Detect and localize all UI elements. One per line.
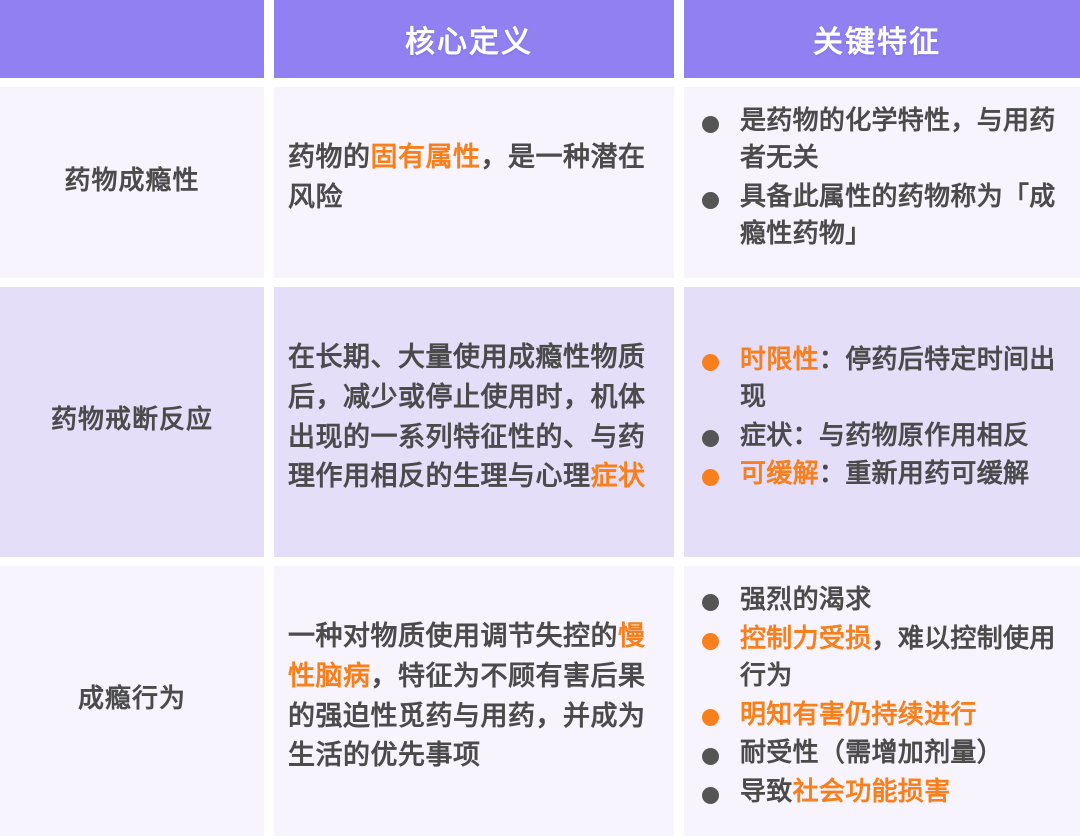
table-header-key-features: 关键特征 — [674, 0, 1080, 78]
plain-phrase: 是药物的化学特性，与用药者无关 — [740, 105, 1056, 172]
row-term-label: 药物戒断反应 — [51, 399, 213, 436]
highlighted-phrase: 明知有害仍持续进行 — [740, 699, 977, 729]
highlighted-phrase: 固有属性 — [371, 142, 481, 172]
row-term-label: 药物成瘾性 — [64, 160, 199, 197]
feature-list-item: 导致社会功能损害 — [690, 773, 1066, 810]
feature-list-item: 是药物的化学特性，与用药者无关 — [690, 102, 1066, 176]
plain-phrase: 具备此属性的药物称为「成瘾性药物」 — [740, 181, 1056, 248]
plain-phrase: 导致 — [740, 776, 793, 806]
bullet-dot-icon — [702, 709, 719, 726]
table-cell-definition: 一种对物质使用调节失控的慢性脑病，特征为不顾有害后果的强迫性觅药与用药，并成为生… — [264, 557, 674, 836]
table-header-blank — [0, 0, 264, 78]
feature-list-item: 可缓解：重新用药可缓解 — [690, 455, 1066, 492]
highlighted-phrase: 症状 — [591, 461, 646, 491]
row-term-label: 成瘾行为 — [78, 678, 186, 715]
feature-list-item: 时限性：停药后特定时间出现 — [690, 341, 1066, 415]
bullet-dot-icon — [702, 430, 719, 447]
plain-phrase: 症状：与药物原作用相反 — [740, 420, 1029, 450]
definition-text: 药物的固有属性，是一种潜在风险 — [288, 138, 652, 218]
table-cell-definition: 在长期、大量使用成瘾性物质后，减少或停止使用时，机体出现的一系列特征性的、与药理… — [264, 278, 674, 557]
plain-phrase: 药物的 — [288, 142, 371, 172]
highlighted-phrase: 社会功能损害 — [793, 776, 951, 806]
feature-list-item: 症状：与药物原作用相反 — [690, 417, 1066, 454]
highlighted-phrase: 可缓解 — [740, 458, 819, 488]
header-label-col3: 关键特征 — [813, 17, 941, 61]
table-cell-definition: 药物的固有属性，是一种潜在风险 — [264, 78, 674, 278]
feature-list: 时限性：停药后特定时间出现症状：与药物原作用相反可缓解：重新用药可缓解 — [690, 341, 1066, 495]
table-row: 药物戒断反应 — [0, 278, 264, 557]
feature-list-item: 明知有害仍持续进行 — [690, 696, 1066, 733]
bullet-dot-icon — [702, 116, 719, 133]
table-cell-features: 时限性：停药后特定时间出现症状：与药物原作用相反可缓解：重新用药可缓解 — [674, 278, 1080, 557]
bullet-dot-icon — [702, 192, 719, 209]
plain-phrase: 强烈的渴求 — [740, 584, 872, 614]
definition-text: 在长期、大量使用成瘾性物质后，减少或停止使用时，机体出现的一系列特征性的、与药理… — [288, 338, 652, 498]
plain-phrase: ：重新用药可缓解 — [819, 458, 1029, 488]
definition-text: 一种对物质使用调节失控的慢性脑病，特征为不顾有害后果的强迫性觅药与用药，并成为生… — [288, 617, 652, 777]
table-grid: 核心定义 关键特征 药物成瘾性 药物的固有属性，是一种潜在风险 是药物的化学特性… — [0, 0, 1080, 836]
table-row: 药物成瘾性 — [0, 78, 264, 278]
feature-list: 强烈的渴求控制力受损，难以控制使用行为明知有害仍持续进行耐受性（需增加剂量）导致… — [690, 581, 1066, 812]
table-header-core-definition: 核心定义 — [264, 0, 674, 78]
header-label-col2: 核心定义 — [405, 17, 533, 61]
table-cell-features: 强烈的渴求控制力受损，难以控制使用行为明知有害仍持续进行耐受性（需增加剂量）导致… — [674, 557, 1080, 836]
highlighted-phrase: 时限性 — [740, 344, 819, 374]
feature-list-item: 耐受性（需增加剂量） — [690, 734, 1066, 771]
bullet-dot-icon — [702, 633, 719, 650]
plain-phrase: 一种对物质使用调节失控的 — [288, 621, 618, 651]
bullet-dot-icon — [702, 787, 719, 804]
bullet-dot-icon — [702, 594, 719, 611]
bullet-dot-icon — [702, 748, 719, 765]
bullet-dot-icon — [702, 469, 719, 486]
table-cell-features: 是药物的化学特性，与用药者无关具备此属性的药物称为「成瘾性药物」 — [674, 78, 1080, 278]
highlighted-phrase: 控制力受损 — [740, 623, 872, 653]
plain-phrase: 耐受性（需增加剂量） — [740, 737, 1003, 767]
feature-list-item: 强烈的渴求 — [690, 581, 1066, 618]
bullet-dot-icon — [702, 354, 719, 371]
feature-list: 是药物的化学特性，与用药者无关具备此属性的药物称为「成瘾性药物」 — [690, 102, 1066, 254]
table-row: 成瘾行为 — [0, 557, 264, 836]
feature-list-item: 控制力受损，难以控制使用行为 — [690, 620, 1066, 694]
feature-list-item: 具备此属性的药物称为「成瘾性药物」 — [690, 178, 1066, 252]
comparison-table: 丁香园 丁香园 丁香园 丁香园 丁香园 核心定义 关键特征 药物成瘾性 药物的固… — [0, 0, 1080, 836]
